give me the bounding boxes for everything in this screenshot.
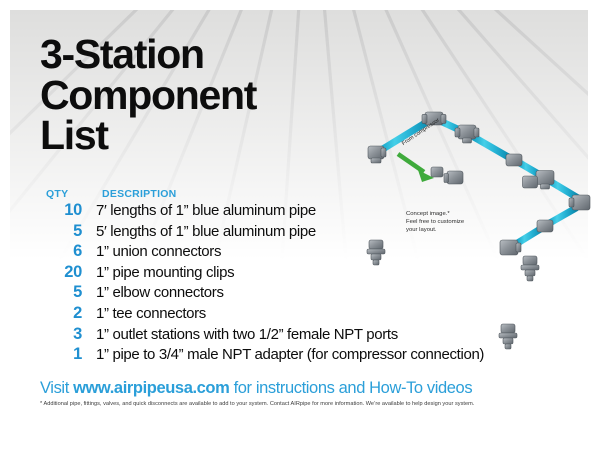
cell-qty: 1 bbox=[40, 345, 82, 364]
table-header-row: QTY DESCRIPTION bbox=[40, 188, 570, 200]
cell-description: 1” outlet stations with two 1/2” female … bbox=[82, 326, 570, 343]
cell-description: 1” pipe mounting clips bbox=[82, 264, 570, 281]
component-list-table: QTY DESCRIPTION 107′ lengths of 1” blue … bbox=[40, 188, 570, 366]
cell-qty: 5 bbox=[40, 283, 82, 302]
cell-description: 1” pipe to 3/4” male NPT adapter (for co… bbox=[82, 346, 570, 363]
cell-description: 1” tee connectors bbox=[82, 305, 570, 322]
table-row: 11” pipe to 3/4” male NPT adapter (for c… bbox=[40, 345, 570, 366]
disclaimer-text: * Additional pipe, fittings, valves, and… bbox=[40, 401, 580, 407]
cell-qty: 10 bbox=[40, 201, 82, 220]
table-body: 107′ lengths of 1” blue aluminum pipe55′… bbox=[40, 201, 570, 366]
cell-description: 1” elbow connectors bbox=[82, 284, 570, 301]
table-row: 61” union connectors bbox=[40, 242, 570, 263]
table-row: 21” tee connectors bbox=[40, 304, 570, 325]
cell-qty: 3 bbox=[40, 325, 82, 344]
cell-description: 5′ lengths of 1” blue aluminum pipe bbox=[82, 223, 570, 240]
column-header-qty: QTY bbox=[40, 188, 88, 200]
table-row: 51” elbow connectors bbox=[40, 283, 570, 304]
cell-qty: 20 bbox=[40, 263, 82, 282]
poster-page: 3-Station Component List bbox=[0, 0, 600, 464]
visit-line: Visit www.airpipeusa.com for instruction… bbox=[40, 379, 472, 398]
cell-description: 7′ lengths of 1” blue aluminum pipe bbox=[82, 202, 570, 219]
compressor-arrow-icon bbox=[398, 154, 434, 182]
table-row: 55′ lengths of 1” blue aluminum pipe bbox=[40, 222, 570, 243]
page-title: 3-Station Component List bbox=[40, 34, 400, 156]
cell-qty: 2 bbox=[40, 304, 82, 323]
column-header-description: DESCRIPTION bbox=[88, 188, 570, 200]
visit-prefix: Visit bbox=[40, 379, 73, 397]
cell-qty: 6 bbox=[40, 242, 82, 261]
table-row: 31” outlet stations with two 1/2” female… bbox=[40, 325, 570, 346]
website-link[interactable]: www.airpipeusa.com bbox=[73, 379, 229, 397]
table-row: 201” pipe mounting clips bbox=[40, 263, 570, 284]
visit-suffix: for instructions and How-To videos bbox=[229, 379, 472, 397]
cell-description: 1” union connectors bbox=[82, 243, 570, 260]
cell-qty: 5 bbox=[40, 222, 82, 241]
table-row: 107′ lengths of 1” blue aluminum pipe bbox=[40, 201, 570, 222]
